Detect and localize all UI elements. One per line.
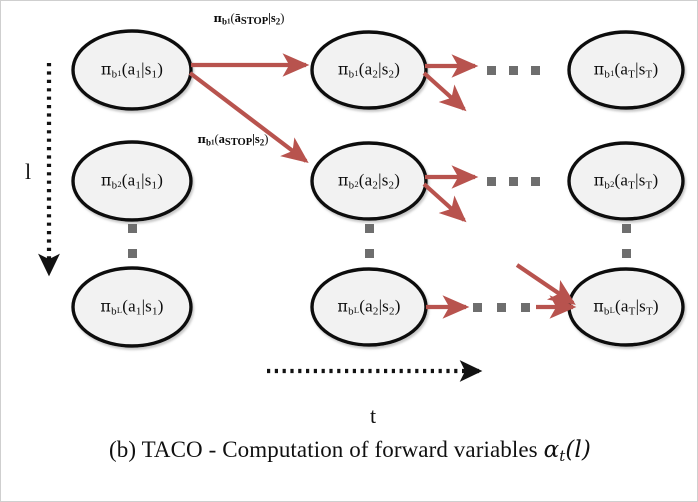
node-bL-t2-ellipse[interactable] [312, 269, 426, 345]
ellipsis-vertical-col-t1 [128, 224, 137, 258]
ellipsis-dot [473, 303, 482, 312]
ellipsis-horizontal-row-bL [473, 303, 530, 312]
caption-prefix: (b) TACO - Computation of forward variab… [109, 437, 544, 462]
ellipsis-dot [487, 66, 496, 75]
ellipsis-dot [128, 224, 137, 233]
node-group-row-b2 [73, 142, 683, 220]
node-group-row-b1 [73, 31, 683, 109]
figure-caption: (b) TACO - Computation of forward variab… [1, 437, 698, 465]
diagram-canvas [1, 1, 698, 502]
figure-panel: πb1(a1|s1) πb1(a2|s2) πb1(aT|sT) πb2(a1|… [0, 0, 698, 502]
node-b1-t2-ellipse[interactable] [312, 32, 426, 108]
ellipsis-dot [509, 177, 518, 186]
ellipsis-horizontal-row-b2 [487, 177, 540, 186]
arrow-diagonal-into-bLtT [517, 265, 573, 303]
node-b2-t1-ellipse[interactable] [73, 142, 191, 220]
ellipsis-vertical-col-t2 [365, 224, 374, 258]
ellipsis-dot [622, 249, 631, 258]
node-bL-tT-ellipse[interactable] [569, 269, 683, 345]
node-b1-t1-ellipse[interactable] [73, 31, 191, 109]
caption-alpha: α [544, 437, 560, 463]
node-b1-tT-ellipse[interactable] [569, 32, 683, 108]
ellipsis-dot [509, 66, 518, 75]
arrow-b1t1-to-b2t2 [190, 73, 306, 161]
ellipsis-dot [365, 249, 374, 258]
node-bL-t1-ellipse[interactable] [73, 268, 191, 346]
node-b2-tT-ellipse[interactable] [569, 143, 683, 219]
node-group-row-bL [73, 268, 683, 346]
ellipsis-dot [622, 224, 631, 233]
ellipsis-dot [128, 249, 137, 258]
ellipsis-dot [531, 177, 540, 186]
arrow-b1t2-diagonal-stub [424, 73, 464, 109]
ellipsis-horizontal-row-b1 [487, 66, 540, 75]
ellipsis-dot [531, 66, 540, 75]
ellipsis-dot [365, 224, 374, 233]
ellipsis-dot [497, 303, 506, 312]
ellipsis-dot [487, 177, 496, 186]
caption-tail: (l) [565, 437, 591, 463]
ellipsis-dot [521, 303, 530, 312]
ellipsis-vertical-col-tT [622, 224, 631, 258]
arrow-b2t2-diagonal-stub [424, 184, 464, 220]
node-b2-t2-ellipse[interactable] [312, 143, 426, 219]
